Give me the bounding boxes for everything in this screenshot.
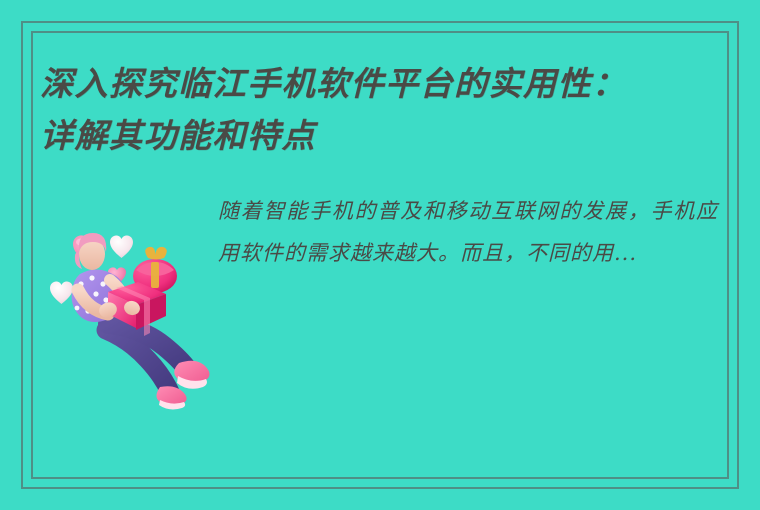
article-card: 深入探究临江手机软件平台的实用性： 详解其功能和特点 随着智能手机的普及和移动互… bbox=[0, 0, 760, 510]
character-figure bbox=[72, 233, 210, 409]
shoe-back bbox=[157, 386, 187, 409]
article-title: 深入探究临江手机软件平台的实用性： 详解其功能和特点 bbox=[40, 58, 730, 162]
shoe-front bbox=[174, 361, 209, 389]
illustration-person-holding-gift bbox=[48, 218, 228, 413]
heart-white-left bbox=[50, 281, 73, 304]
heart-white-top bbox=[110, 235, 133, 258]
illustration-svg bbox=[48, 218, 228, 413]
article-summary: 随着智能手机的普及和移动互联网的发展，手机应用软件的需求越来越大。而且，不同的用… bbox=[218, 190, 718, 274]
